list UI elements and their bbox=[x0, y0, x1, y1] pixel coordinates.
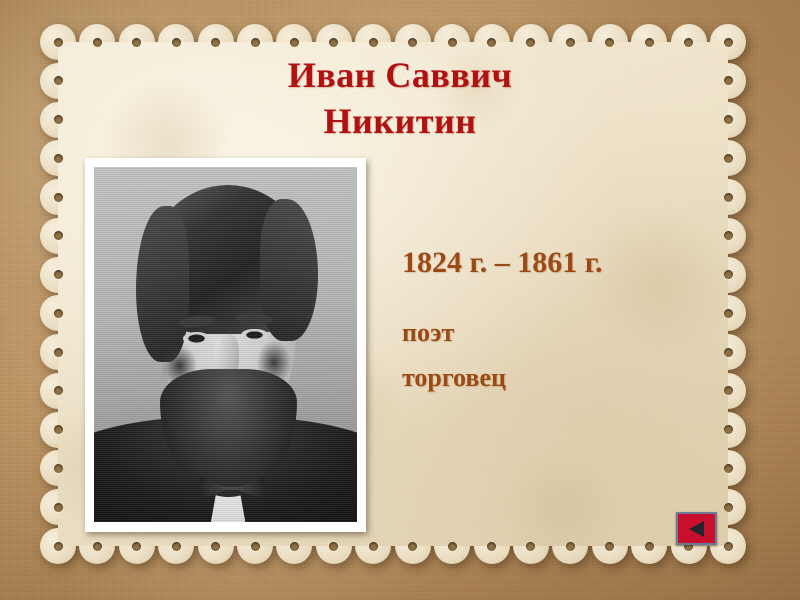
scallop-hole bbox=[172, 38, 181, 47]
scallop-hole bbox=[54, 542, 63, 551]
scallop-hole bbox=[526, 38, 535, 47]
scallop-hole bbox=[724, 38, 733, 47]
scallop-hole bbox=[369, 542, 378, 551]
scallop-hole bbox=[645, 542, 654, 551]
scallop-hole bbox=[526, 542, 535, 551]
scallop-hole bbox=[251, 38, 260, 47]
scallop-hole bbox=[724, 309, 733, 318]
scallop-hole bbox=[487, 542, 496, 551]
scallop-hole bbox=[684, 38, 693, 47]
scallop-hole bbox=[724, 386, 733, 395]
scallop-hole bbox=[724, 193, 733, 202]
scallop-hole bbox=[54, 231, 63, 240]
page-title: Иван Саввич Никитин bbox=[150, 52, 650, 144]
title-line-2: Никитин bbox=[150, 98, 650, 144]
scallop-hole bbox=[54, 270, 63, 279]
scallop-hole bbox=[54, 348, 63, 357]
scallop-hole bbox=[251, 542, 260, 551]
scallop-hole bbox=[329, 38, 338, 47]
back-button[interactable] bbox=[676, 512, 717, 545]
scallop-hole bbox=[211, 542, 220, 551]
scallop-hole bbox=[605, 542, 614, 551]
scallop-hole bbox=[448, 542, 457, 551]
scallop-hole bbox=[54, 115, 63, 124]
scallop-hole bbox=[724, 425, 733, 434]
title-line-1: Иван Саввич bbox=[150, 52, 650, 98]
scallop-hole bbox=[290, 542, 299, 551]
scallop-hole bbox=[724, 542, 733, 551]
scallop-hole bbox=[54, 464, 63, 473]
portrait-photo bbox=[94, 167, 357, 522]
scallop-hole bbox=[54, 503, 63, 512]
scallop-hole bbox=[724, 348, 733, 357]
scallop-hole bbox=[290, 38, 299, 47]
portrait-frame bbox=[85, 158, 366, 532]
scallop-hole bbox=[54, 154, 63, 163]
back-triangle-icon bbox=[687, 520, 707, 538]
biography-info: 1824 г. – 1861 г. поэт торговец bbox=[402, 244, 602, 400]
life-dates: 1824 г. – 1861 г. bbox=[402, 244, 602, 282]
scallop-hole bbox=[54, 309, 63, 318]
scallop-hole bbox=[408, 542, 417, 551]
photo-grain-overlay bbox=[94, 167, 357, 522]
scallop-hole bbox=[408, 38, 417, 47]
scallop-hole bbox=[724, 464, 733, 473]
scallop-hole bbox=[172, 542, 181, 551]
slide-canvas: Иван Саввич Никитин 1824 г. – bbox=[0, 0, 800, 600]
scallop-hole bbox=[448, 38, 457, 47]
scallop-hole bbox=[724, 115, 733, 124]
scallop-hole bbox=[724, 503, 733, 512]
scallop-hole bbox=[132, 38, 141, 47]
role-list: поэт торговец bbox=[402, 310, 602, 400]
scallop-hole bbox=[724, 76, 733, 85]
scallop-hole bbox=[329, 542, 338, 551]
scallop-hole bbox=[54, 38, 63, 47]
scallop-hole bbox=[211, 38, 220, 47]
scallop-hole bbox=[566, 38, 575, 47]
scallop-hole bbox=[724, 270, 733, 279]
scallop-hole bbox=[54, 425, 63, 434]
scallop-hole bbox=[724, 154, 733, 163]
scallop-hole bbox=[369, 38, 378, 47]
scallop-hole bbox=[605, 38, 614, 47]
scallop-hole bbox=[487, 38, 496, 47]
role-item-1: торговец bbox=[402, 355, 602, 400]
scallop-hole bbox=[724, 231, 733, 240]
scallop-hole bbox=[54, 386, 63, 395]
scallop-hole bbox=[93, 542, 102, 551]
scallop-hole bbox=[93, 38, 102, 47]
role-item-0: поэт bbox=[402, 310, 602, 355]
scallop-hole bbox=[54, 193, 63, 202]
scallop-hole bbox=[54, 76, 63, 85]
scallop-hole bbox=[132, 542, 141, 551]
scallop-hole bbox=[566, 542, 575, 551]
scallop-hole bbox=[645, 38, 654, 47]
